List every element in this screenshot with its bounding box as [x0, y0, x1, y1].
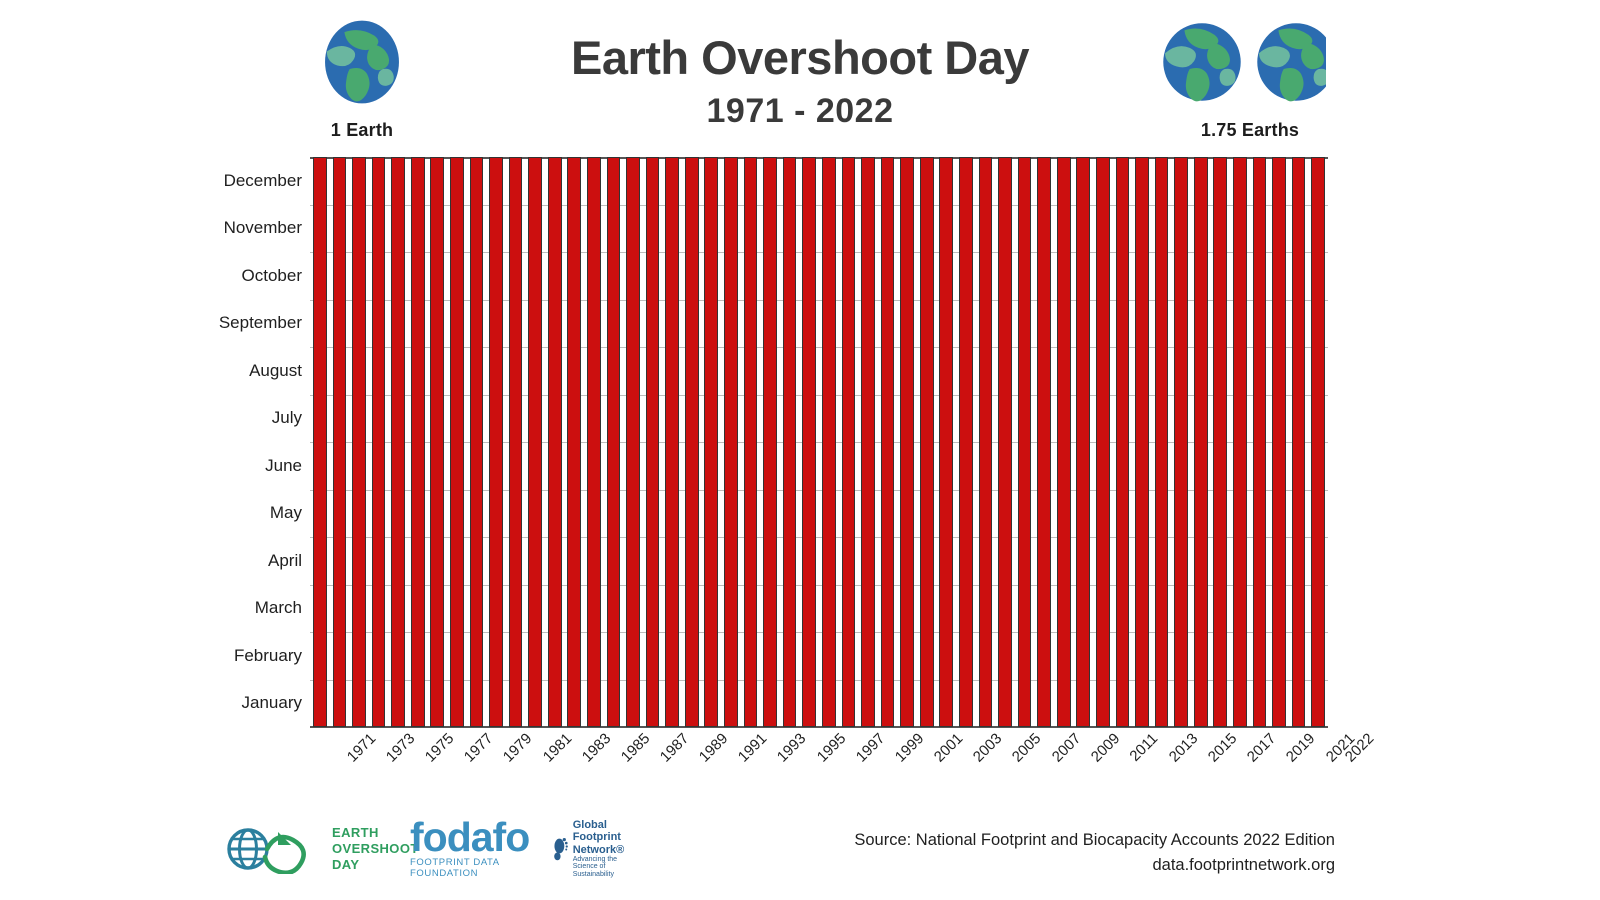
bar-green-segment	[843, 158, 855, 584]
bar-2012[interactable]	[1116, 157, 1130, 727]
bar-green-segment	[412, 158, 424, 654]
bar-2005[interactable]	[979, 157, 993, 727]
fodafo-wordmark: fodafo	[410, 819, 529, 856]
x-axis-tick-2015: 2015	[1205, 730, 1241, 766]
y-axis-tick-march: March	[255, 598, 302, 618]
x-axis-tick-1987: 1987	[657, 730, 693, 766]
x-axis-tick-2005: 2005	[1009, 730, 1045, 766]
x-axis-tick-1981: 1981	[539, 730, 575, 766]
x-axis-tick-1999: 1999	[892, 730, 928, 766]
bar-2003[interactable]	[939, 157, 953, 727]
bar-1994[interactable]	[763, 157, 777, 727]
bar-2007[interactable]	[1018, 157, 1032, 727]
bar-2019[interactable]	[1253, 157, 1267, 727]
bar-green-segment	[353, 158, 365, 673]
bar-green-segment	[882, 158, 894, 573]
fodafo-tagline: FOOTPRINT DATA FOUNDATION	[410, 857, 529, 879]
x-axis-tick-2003: 2003	[970, 730, 1006, 766]
bar-1973[interactable]	[352, 157, 366, 727]
bar-green-segment	[1077, 158, 1089, 513]
bar-green-segment	[373, 158, 385, 675]
y-axis-tick-november: November	[224, 218, 302, 238]
bar-green-segment	[1117, 158, 1129, 496]
x-axis-tick-1991: 1991	[735, 730, 771, 766]
bar-1992[interactable]	[724, 157, 738, 727]
bar-2001[interactable]	[900, 157, 914, 727]
right-earth-caption: 1.75 Earths	[1150, 120, 1350, 141]
bar-green-segment	[1156, 158, 1168, 496]
bar-green-segment	[314, 158, 326, 710]
bar-1987[interactable]	[626, 157, 640, 727]
bar-1982[interactable]	[528, 157, 542, 727]
bar-green-segment	[568, 158, 580, 637]
source-line-1: Source: National Footprint and Biocapaci…	[854, 828, 1335, 853]
source-line-2: data.footprintnetwork.org	[854, 853, 1335, 878]
earth-overshoot-day-logo: EARTH OVERSHOOT DAY	[222, 818, 419, 880]
x-axis-tick-1985: 1985	[618, 730, 654, 766]
bar-green-segment	[940, 158, 952, 567]
bar-2008[interactable]	[1037, 157, 1051, 727]
bar-1995[interactable]	[783, 157, 797, 727]
x-axis-labels: 1971197319751977197919811983198519871989…	[310, 730, 1328, 810]
bar-green-segment	[1312, 158, 1324, 483]
earth-globe-icon-left	[318, 18, 406, 106]
bar-green-segment	[1097, 158, 1109, 502]
bar-green-segment	[1234, 158, 1246, 489]
bar-green-segment	[334, 158, 346, 692]
bar-1993[interactable]	[744, 157, 758, 727]
y-axis-tick-april: April	[268, 551, 302, 571]
bar-1976[interactable]	[411, 157, 425, 727]
x-axis-tick-2013: 2013	[1166, 730, 1202, 766]
bar-green-segment	[901, 158, 913, 570]
x-axis-tick-1975: 1975	[422, 730, 458, 766]
chart-plot-area	[310, 157, 1328, 727]
bar-1974[interactable]	[372, 157, 386, 727]
x-axis-tick-2019: 2019	[1283, 730, 1319, 766]
bar-green-segment	[803, 158, 815, 597]
eod-line-1: EARTH	[332, 825, 419, 841]
bar-1996[interactable]	[802, 157, 816, 727]
bar-2020[interactable]	[1272, 157, 1286, 727]
globe-loop-icon	[222, 824, 326, 874]
y-axis-tick-february: February	[234, 646, 302, 666]
bar-1984[interactable]	[567, 157, 581, 727]
bar-2016[interactable]	[1194, 157, 1208, 727]
bar-green-segment	[745, 158, 757, 605]
y-axis-tick-july: July	[272, 408, 302, 428]
eod-line-2: OVERSHOOT	[332, 841, 419, 857]
source-attribution: Source: National Footprint and Biocapaci…	[854, 828, 1335, 878]
bar-green-segment	[784, 158, 796, 598]
earth-globe-icon-right-1	[1158, 18, 1246, 106]
bar-1991[interactable]	[704, 157, 718, 727]
bar-2006[interactable]	[998, 157, 1012, 727]
bar-1986[interactable]	[607, 157, 621, 727]
x-axis-tick-2001: 2001	[931, 730, 967, 766]
bar-green-segment	[1136, 158, 1148, 493]
bar-1978[interactable]	[450, 157, 464, 727]
bar-2000[interactable]	[881, 157, 895, 727]
bar-green-segment	[1254, 158, 1266, 485]
x-axis-tick-1993: 1993	[774, 730, 810, 766]
x-axis-tick-2017: 2017	[1244, 730, 1280, 766]
y-axis-tick-october: October	[242, 266, 302, 286]
bar-green-segment	[686, 158, 698, 608]
bar-1972[interactable]	[333, 157, 347, 727]
bar-2013[interactable]	[1135, 157, 1149, 727]
bar-green-segment	[862, 158, 874, 581]
x-axis-tick-1979: 1979	[500, 730, 536, 766]
bar-green-segment	[490, 158, 502, 637]
x-axis-tick-1983: 1983	[578, 730, 614, 766]
bar-2014[interactable]	[1155, 157, 1169, 727]
bar-1979[interactable]	[470, 157, 484, 727]
x-axis-tick-1973: 1973	[383, 730, 419, 766]
bar-1998[interactable]	[842, 157, 856, 727]
fodafo-logo: fodafo FOOTPRINT DATA FOUNDATION	[410, 818, 529, 880]
page-subtitle: 1971 - 2022	[400, 92, 1200, 131]
gfn-tagline: Advancing the Science of Sustainability	[573, 856, 642, 879]
x-axis-tick-1977: 1977	[461, 730, 497, 766]
bar-green-segment	[647, 158, 659, 612]
x-axis-tick-1997: 1997	[853, 730, 889, 766]
bar-green-segment	[627, 158, 639, 620]
bar-1999[interactable]	[861, 157, 875, 727]
bar-green-segment	[960, 158, 972, 550]
y-axis-tick-january: January	[242, 693, 302, 713]
earth-globe-icon-right-2	[1252, 18, 1340, 106]
bar-green-segment	[1273, 158, 1285, 524]
bar-green-segment	[764, 158, 776, 602]
bar-1988[interactable]	[646, 157, 660, 727]
bar-1997[interactable]	[822, 157, 836, 727]
y-axis-tick-may: May	[270, 503, 302, 523]
infographic-root: 1 Earth Earth Overshoot Day 1971 - 2022 …	[0, 0, 1600, 900]
bar-green-segment	[510, 158, 522, 644]
y-axis-tick-june: June	[265, 456, 302, 476]
bar-1977[interactable]	[430, 157, 444, 727]
bar-green-segment	[608, 158, 620, 626]
bar-green-segment	[392, 158, 404, 678]
y-axis-labels: JanuaryFebruaryMarchAprilMayJuneJulyAugu…	[110, 157, 302, 727]
bar-2015[interactable]	[1174, 157, 1188, 727]
bar-2022[interactable]	[1311, 157, 1325, 727]
global-footprint-network-logo: Global Footprint Network® Advancing the …	[552, 818, 642, 880]
bar-1981[interactable]	[509, 157, 523, 727]
bar-green-segment	[451, 158, 463, 639]
page-title: Earth Overshoot Day	[400, 34, 1200, 81]
bar-1985[interactable]	[587, 157, 601, 727]
x-axis-tick-1995: 1995	[813, 730, 849, 766]
bar-1975[interactable]	[391, 157, 405, 727]
bar-green-segment	[588, 158, 600, 633]
earth-overshoot-day-wordmark: EARTH OVERSHOOT DAY	[332, 825, 419, 873]
x-axis-tick-2007: 2007	[1048, 730, 1084, 766]
bar-2017[interactable]	[1213, 157, 1227, 727]
bar-green-segment	[921, 158, 933, 578]
x-axis-tick-1989: 1989	[696, 730, 732, 766]
bar-green-segment	[471, 158, 483, 630]
x-axis-tick-2009: 2009	[1087, 730, 1123, 766]
bar-green-segment	[980, 158, 992, 541]
bar-green-segment	[1195, 158, 1207, 497]
y-axis-tick-december: December	[224, 171, 302, 191]
left-earth-caption: 1 Earth	[318, 120, 406, 141]
bar-green-segment	[549, 158, 561, 647]
bar-1971[interactable]	[313, 157, 327, 727]
bar-green-segment	[666, 158, 678, 605]
y-axis-tick-august: August	[249, 361, 302, 381]
bar-green-segment	[823, 158, 835, 588]
gfn-name: Global Footprint Network®	[573, 819, 642, 855]
bar-1980[interactable]	[489, 157, 503, 727]
bar-1990[interactable]	[685, 157, 699, 727]
eod-line-3: DAY	[332, 857, 419, 873]
bar-green-segment	[705, 158, 717, 605]
bar-green-segment	[1058, 158, 1070, 528]
bar-green-segment	[529, 158, 541, 648]
bar-green-segment	[999, 158, 1011, 528]
bar-2018[interactable]	[1233, 157, 1247, 727]
bar-green-segment	[431, 158, 443, 647]
bar-1989[interactable]	[665, 157, 679, 727]
footprint-icon	[552, 823, 569, 875]
bar-green-segment	[725, 158, 737, 608]
bar-2004[interactable]	[959, 157, 973, 727]
bar-green-segment	[1038, 158, 1050, 525]
bar-green-segment	[1019, 158, 1031, 530]
bar-2009[interactable]	[1057, 157, 1071, 727]
bar-1983[interactable]	[548, 157, 562, 727]
bar-2002[interactable]	[920, 157, 934, 727]
bar-2010[interactable]	[1076, 157, 1090, 727]
x-axis-tick-2011: 2011	[1126, 730, 1161, 765]
x-axis-tick-1971: 1971	[344, 730, 380, 766]
bar-2011[interactable]	[1096, 157, 1110, 727]
bar-green-segment	[1293, 158, 1305, 485]
y-axis-tick-september: September	[219, 313, 302, 333]
bar-2021[interactable]	[1292, 157, 1306, 727]
bar-green-segment	[1214, 158, 1226, 493]
bar-green-segment	[1175, 158, 1187, 496]
